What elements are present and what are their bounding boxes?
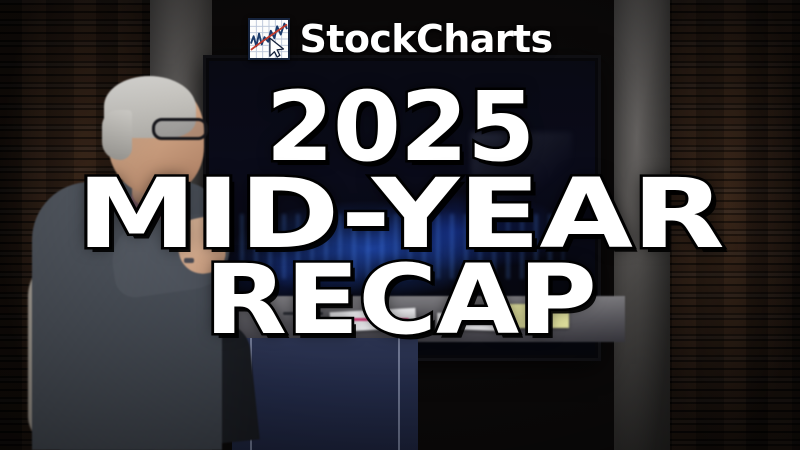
host-left-glasses	[152, 118, 208, 140]
stockcharts-chart-cursor-icon	[248, 18, 290, 60]
desk-pen	[443, 322, 503, 325]
host-left-hair-side	[102, 110, 132, 160]
brand-wordmark: StockCharts	[300, 20, 553, 58]
brand-logo: StockCharts	[0, 18, 800, 60]
video-thumbnail: StockCharts 2025 MID-YEAR RECAP	[0, 0, 800, 450]
concrete-pillar-right	[614, 0, 670, 450]
desk-pen	[343, 318, 409, 321]
screen-reflection	[471, 132, 571, 232]
desk-pen	[283, 312, 323, 315]
desk-notepad	[505, 304, 569, 328]
host-left-ring	[184, 258, 194, 263]
desk-front-panel	[232, 338, 418, 450]
wood-slat-wall-right	[650, 0, 800, 450]
panel-seam	[398, 338, 400, 450]
